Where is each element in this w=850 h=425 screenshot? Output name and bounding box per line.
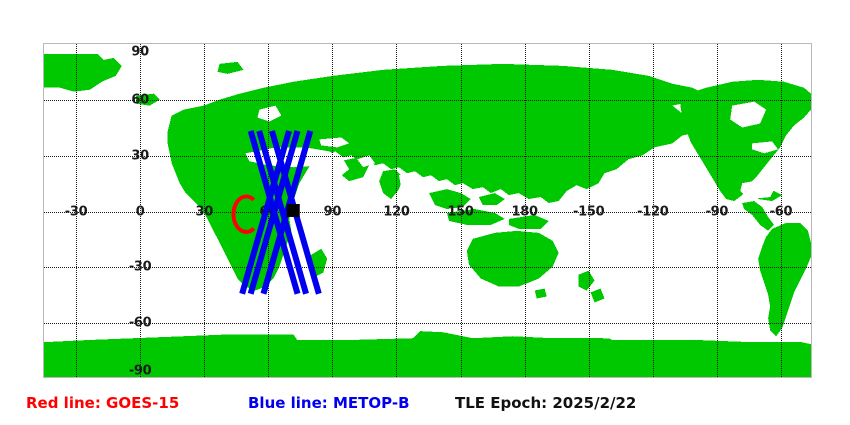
ground-track-figure: -300306090120150180-150-120-90-60906030-… <box>0 0 850 390</box>
legend-red-line: Red line: GOES-15 <box>26 392 179 414</box>
metop-b-ground-tracks <box>242 131 319 294</box>
metop-b-position-marker <box>287 204 300 217</box>
goes-15-geo-arc <box>233 196 253 232</box>
legend-bar: Red line: GOES-15 Blue line: METOP-B TLE… <box>0 392 850 425</box>
goes-15-ground-track <box>233 196 253 232</box>
legend-tle-epoch: TLE Epoch: 2025/2/22 <box>455 392 636 414</box>
satellite-track-layer <box>44 44 811 377</box>
legend-blue-line: Blue line: METOP-B <box>248 392 410 414</box>
map-plot-area: -300306090120150180-150-120-90-60906030-… <box>43 43 812 378</box>
satellite-markers <box>287 204 300 217</box>
